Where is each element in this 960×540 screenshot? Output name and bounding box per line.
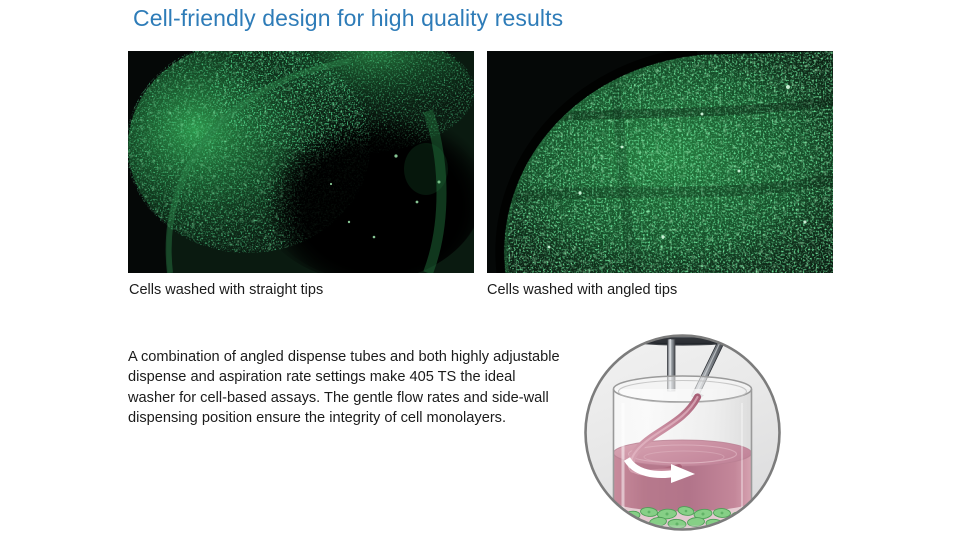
micrograph-right-render bbox=[487, 51, 833, 273]
side-wall-dispense-diagram bbox=[583, 333, 782, 532]
caption-angled-tips: Cells washed with angled tips bbox=[487, 282, 677, 298]
caption-straight-tips: Cells washed with straight tips bbox=[129, 282, 323, 298]
micrograph-angled-tips bbox=[487, 51, 833, 273]
micrograph-image-right bbox=[487, 51, 833, 273]
page-title: Cell-friendly design for high quality re… bbox=[133, 5, 563, 32]
body-paragraph: A combination of angled dispense tubes a… bbox=[128, 347, 562, 429]
side-wall-dispense-illustration bbox=[583, 333, 782, 532]
micrograph-straight-tips bbox=[128, 51, 474, 273]
micrograph-left-render bbox=[128, 51, 474, 273]
micrograph-image-left bbox=[128, 51, 474, 273]
